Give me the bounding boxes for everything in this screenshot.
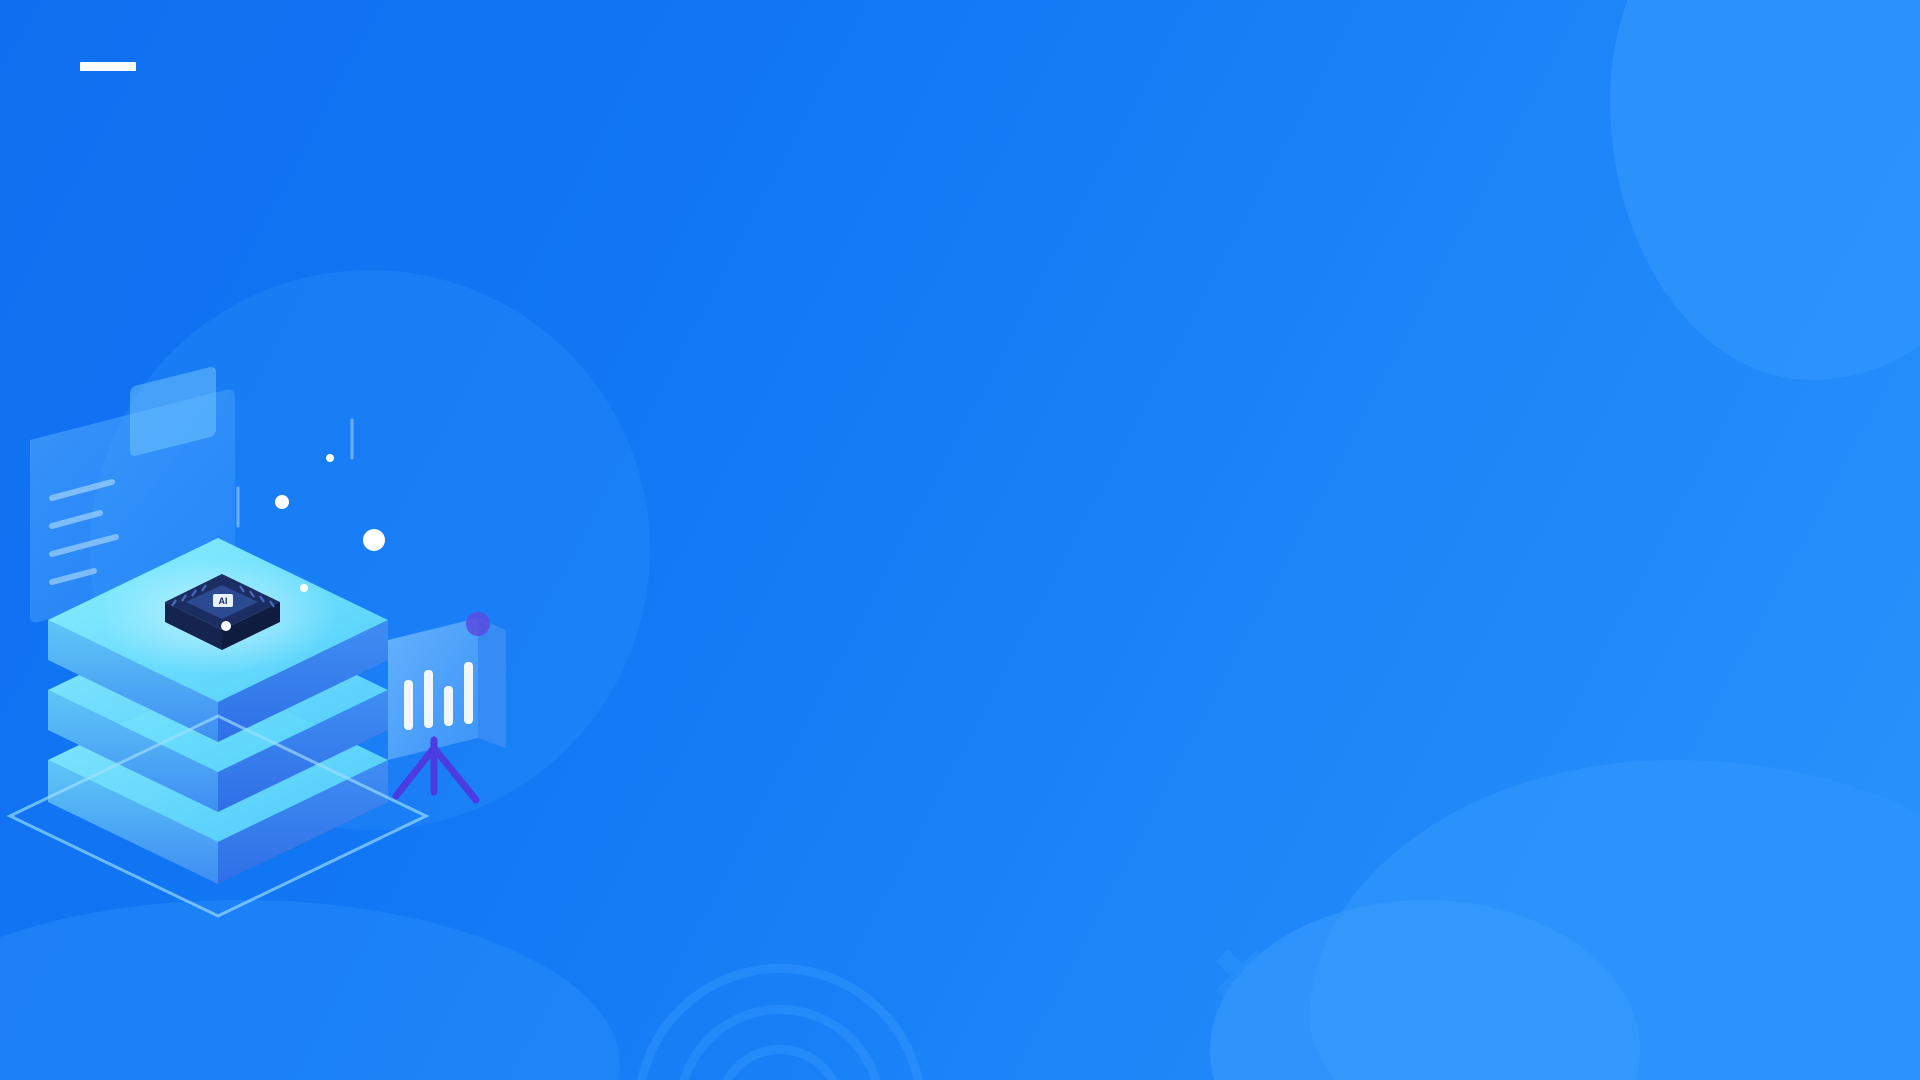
title-block — [80, 62, 500, 97]
decor-cross-icon — [1212, 946, 1272, 1006]
decor-blob-bottom-right — [1310, 760, 1920, 1080]
process-step-grid — [598, 226, 1882, 274]
infographic-canvas: AI — [0, 0, 1920, 1080]
isometric-chip-illustration: AI — [0, 330, 530, 890]
decor-blob-bottom-left — [0, 900, 620, 1080]
svg-text:AI: AI — [219, 596, 228, 606]
decor-blob-bottom-right-2 — [1210, 900, 1640, 1080]
decor-blob-top-right — [1610, 0, 1920, 380]
decor-concentric-rings — [600, 930, 960, 1080]
title-accent-dash — [80, 62, 136, 71]
illustration-chart-board — [388, 612, 506, 800]
